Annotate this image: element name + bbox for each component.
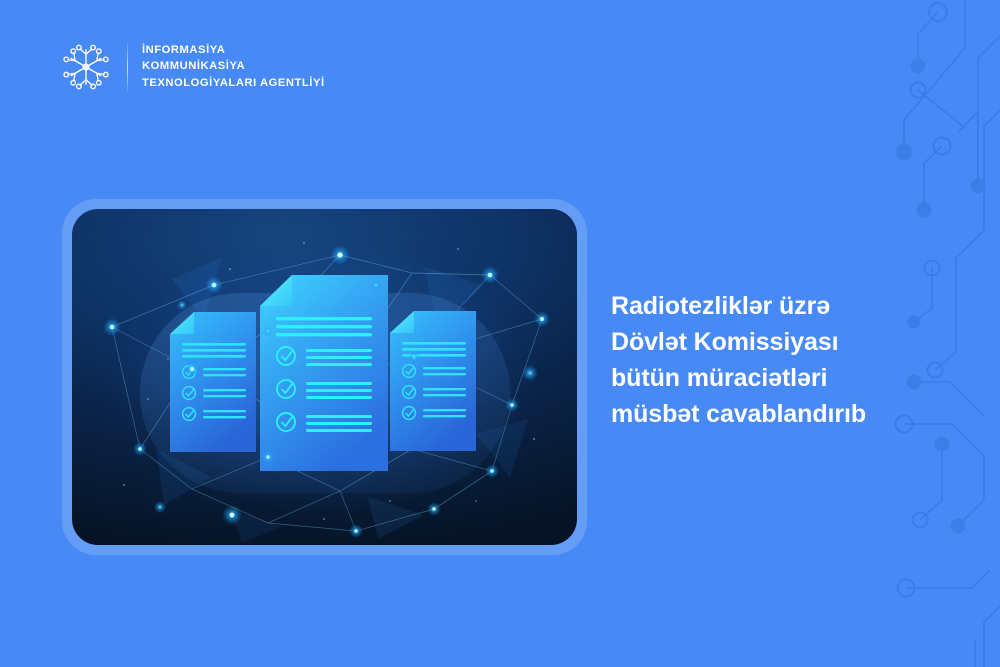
logo-text-block: İNFORMASİYA KOMMUNİKASİYA TEXNOLOGİYALAR… <box>142 44 325 90</box>
headline-line-3: bütün müraciətləri <box>611 360 951 396</box>
page-title: Radiotezliklər üzrə Dövlət Komissiyası b… <box>611 288 951 432</box>
illustration-card-frame <box>62 199 587 555</box>
logo-divider <box>127 42 128 92</box>
brand-logo-lockup[interactable]: İNFORMASİYA KOMMUNİKASİYA TEXNOLOGİYALAR… <box>57 36 325 98</box>
headline-line-4: müsbət cavablandırıb <box>611 396 951 432</box>
document-right <box>390 311 476 451</box>
three-approved-documents-illustration <box>72 209 577 545</box>
logo-text-line-1: İNFORMASİYA <box>142 44 325 57</box>
ikta-snowflake-network-logo-icon <box>57 36 115 98</box>
logo-text-line-2: KOMMUNİKASİYA <box>142 60 325 73</box>
headline-line-1: Radiotezliklər üzrə <box>611 288 951 324</box>
headline-line-2: Dövlət Komissiyası <box>611 324 951 360</box>
logo-text-line-3: TEXNOLOGİYALARI AGENTLİYİ <box>142 77 325 90</box>
document-center <box>260 275 388 471</box>
illustration-canvas <box>72 209 577 545</box>
document-left <box>170 312 256 452</box>
